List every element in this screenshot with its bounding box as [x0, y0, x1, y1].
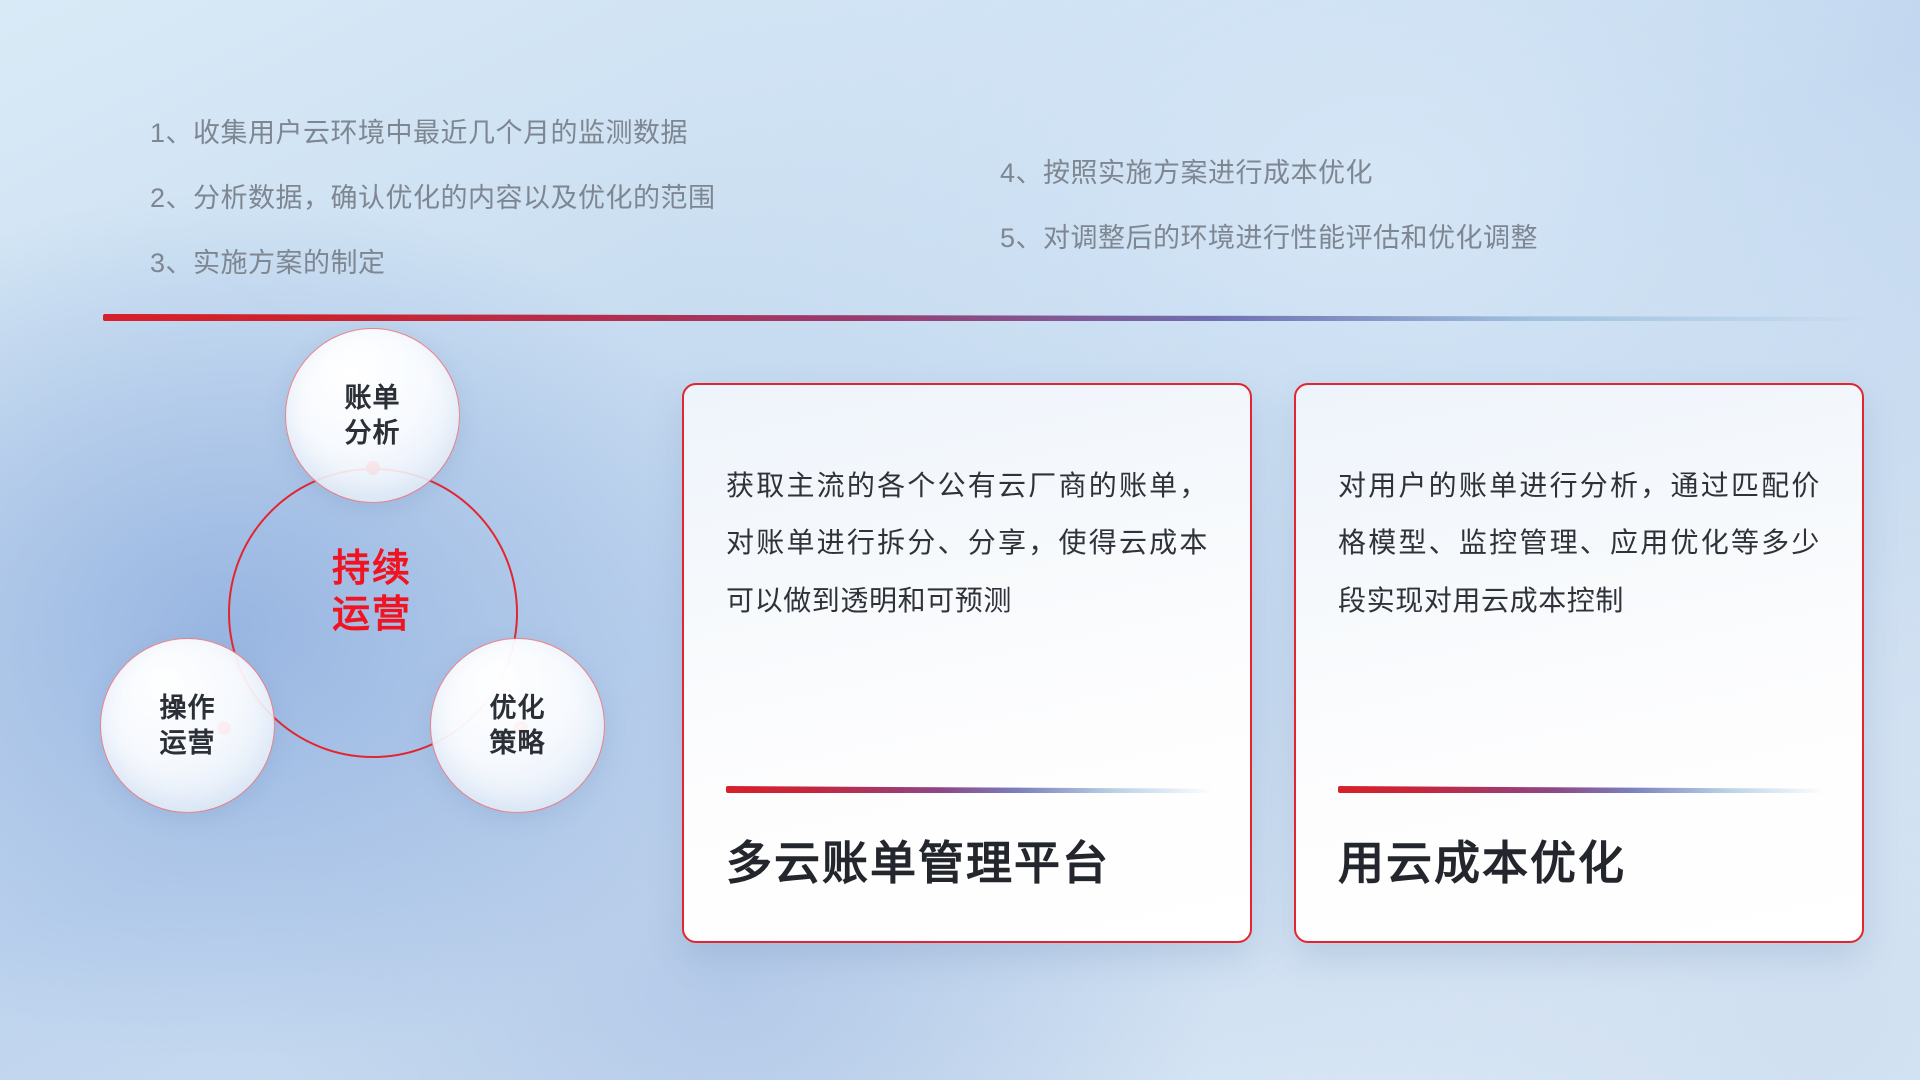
- card-title: 多云账单管理平台: [726, 827, 1110, 893]
- bullet-item: 4、按照实施方案进行成本优化: [1000, 160, 1538, 187]
- bullet-list-left: 1、收集用户云环境中最近几个月的监测数据 2、分析数据，确认优化的内容以及优化的…: [150, 120, 716, 315]
- cycle-center-label: 持续 运营: [292, 546, 452, 639]
- slide-canvas: 1、收集用户云环境中最近几个月的监测数据 2、分析数据，确认优化的内容以及优化的…: [0, 0, 1920, 1080]
- feature-card-multicloud-billing[interactable]: 获取主流的各个公有云厂商的账单，对账单进行拆分、分享，使得云成本可以做到透明和可…: [682, 383, 1252, 943]
- bubble-operations[interactable]: 操作 运营: [100, 638, 275, 813]
- card-accent-rule: [1338, 786, 1824, 793]
- card-body-text: 获取主流的各个公有云厂商的账单，对账单进行拆分、分享，使得云成本可以做到透明和可…: [726, 457, 1208, 629]
- card-title: 用云成本优化: [1338, 827, 1626, 893]
- bullet-item: 5、对调整后的环境进行性能评估和优化调整: [1000, 225, 1538, 252]
- bubble-billing-analysis[interactable]: 账单 分析: [285, 328, 460, 503]
- bubble-label: 优化 策略: [490, 691, 546, 760]
- feature-card-cost-optimization[interactable]: 对用户的账单进行分析，通过匹配价格模型、监控管理、应用优化等多少段实现对用云成本…: [1294, 383, 1864, 943]
- bubble-label: 操作 运营: [160, 691, 216, 760]
- card-accent-rule: [726, 786, 1212, 793]
- bullet-item: 2、分析数据，确认优化的内容以及优化的范围: [150, 185, 716, 212]
- bullet-list-right: 4、按照实施方案进行成本优化 5、对调整后的环境进行性能评估和优化调整: [1000, 160, 1538, 290]
- bullet-item: 1、收集用户云环境中最近几个月的监测数据: [150, 120, 716, 147]
- bubble-optimization-strategy[interactable]: 优化 策略: [430, 638, 605, 813]
- card-body-text: 对用户的账单进行分析，通过匹配价格模型、监控管理、应用优化等多少段实现对用云成本…: [1338, 457, 1820, 629]
- bullet-item: 3、实施方案的制定: [150, 250, 716, 277]
- section-divider: [103, 314, 1893, 321]
- cycle-diagram: 账单 分析 操作 运营 优化 策略 持续 运营: [100, 350, 640, 930]
- bubble-label: 账单 分析: [345, 381, 401, 450]
